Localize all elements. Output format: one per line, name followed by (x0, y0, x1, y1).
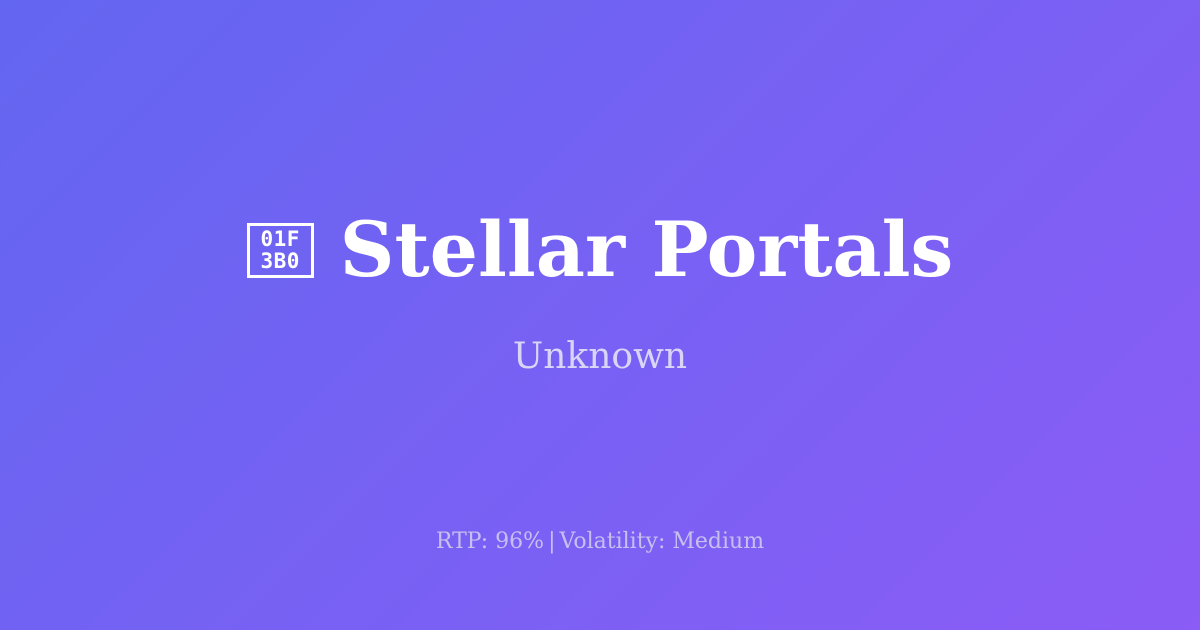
volatility-label: Volatility: Medium (560, 529, 765, 554)
slot-machine-icon: 01F 3B0 (247, 223, 314, 278)
hero-block: 01F 3B0 Stellar Portals Unknown (0, 207, 1200, 379)
rtp-label: RTP: 96% (436, 529, 544, 554)
og-card: 01F 3B0 Stellar Portals Unknown RTP: 96%… (0, 0, 1200, 630)
page-title: Stellar Portals (340, 207, 954, 293)
slot-machine-icon-codepoint-top: 01F (260, 228, 299, 250)
meta-separator: | (544, 529, 559, 554)
slot-machine-icon-codepoint-bottom: 3B0 (260, 250, 299, 272)
title-row: 01F 3B0 Stellar Portals (247, 207, 954, 293)
page-subtitle: Unknown (513, 335, 687, 379)
game-meta-line: RTP: 96%|Volatility: Medium (0, 528, 1200, 556)
